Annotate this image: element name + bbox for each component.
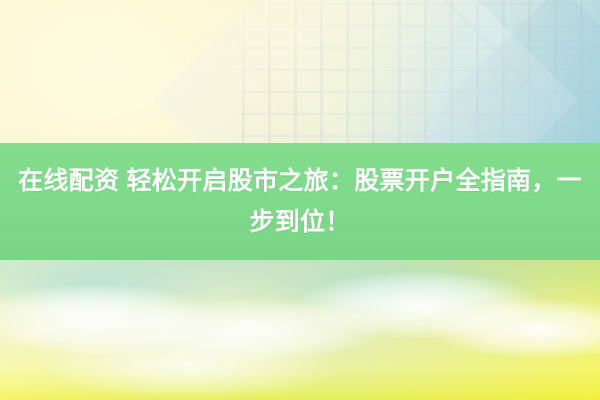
banner-image: 在线配资 轻松开启股市之旅：股票开户全指南，一步到位！ [0,0,600,400]
headline-band: 在线配资 轻松开启股市之旅：股票开户全指南，一步到位！ [0,143,600,260]
headline-title: 在线配资 轻松开启股市之旅：股票开户全指南，一步到位！ [6,161,594,243]
background-cyan-tint-right [250,258,550,318]
